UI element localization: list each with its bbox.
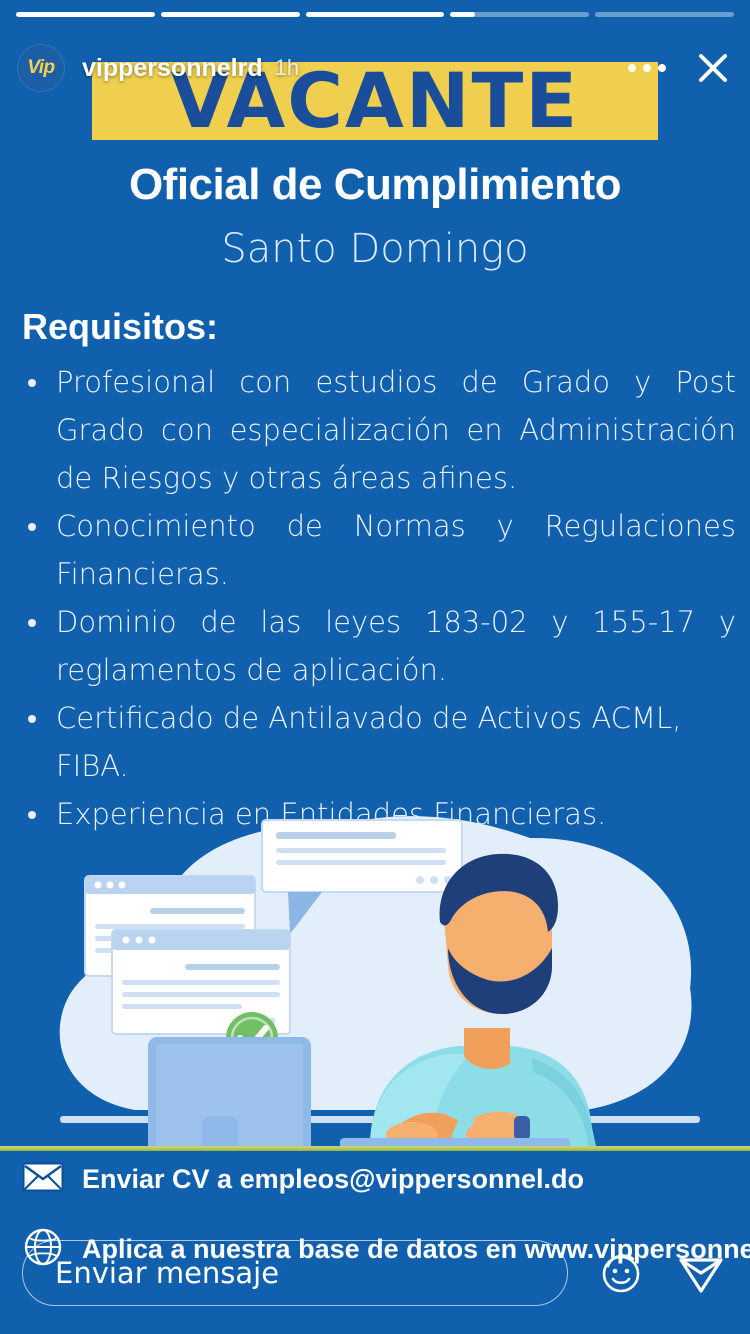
story-header: Vip vippersonnelrd 1h bbox=[18, 38, 736, 98]
message-input[interactable]: Enviar mensaje bbox=[22, 1240, 568, 1306]
close-icon[interactable] bbox=[690, 45, 736, 91]
requirement-item: Dominio de las leyes 183-02 y 155-17 y r… bbox=[22, 598, 736, 694]
send-paper-plane-icon[interactable] bbox=[674, 1246, 728, 1300]
story-reply-bar: Enviar mensaje bbox=[22, 1240, 728, 1306]
footer-email-text: Enviar CV a empleos@vippersonnel.do bbox=[82, 1164, 584, 1195]
more-options-icon[interactable] bbox=[624, 58, 670, 78]
instagram-story-viewer[interactable]: Vip vippersonnelrd 1h VACANTE Oficial de… bbox=[0, 0, 750, 1334]
profile-avatar[interactable]: Vip bbox=[18, 45, 64, 91]
message-placeholder: Enviar mensaje bbox=[55, 1256, 279, 1290]
requirement-item: Certificado de Antilavado de Activos ACM… bbox=[22, 694, 736, 790]
footer-divider bbox=[0, 1146, 750, 1151]
timestamp-label: 1h bbox=[275, 55, 299, 81]
requirement-item: Profesional con estudios de Grado y Post… bbox=[22, 358, 736, 502]
requirements-list: Profesional con estudios de Grado y Post… bbox=[22, 358, 736, 838]
progress-segment-2[interactable] bbox=[161, 12, 300, 17]
smiley-face-icon[interactable] bbox=[594, 1246, 648, 1300]
job-location: Santo Domingo bbox=[0, 226, 750, 272]
username-label[interactable]: vippersonnelrd bbox=[82, 54, 263, 83]
man-at-computer-illustration bbox=[40, 798, 720, 1146]
progress-segment-4[interactable] bbox=[450, 12, 589, 17]
story-creative: VACANTE Oficial de Cumplimiento Santo Do… bbox=[0, 0, 750, 1334]
progress-segment-3[interactable] bbox=[306, 12, 445, 17]
envelope-icon bbox=[22, 1162, 64, 1197]
progress-segment-1[interactable] bbox=[16, 12, 155, 17]
job-title: Oficial de Cumplimiento bbox=[0, 160, 750, 210]
requirement-item: Conocimiento de Normas y Regulaciones Fi… bbox=[22, 502, 736, 598]
footer-email-line: Enviar CV a empleos@vippersonnel.do bbox=[22, 1162, 740, 1197]
story-progress-bar bbox=[16, 12, 734, 17]
requirements-heading: Requisitos: bbox=[22, 306, 218, 348]
progress-segment-5[interactable] bbox=[595, 12, 734, 17]
avatar-label: Vip bbox=[27, 57, 54, 79]
